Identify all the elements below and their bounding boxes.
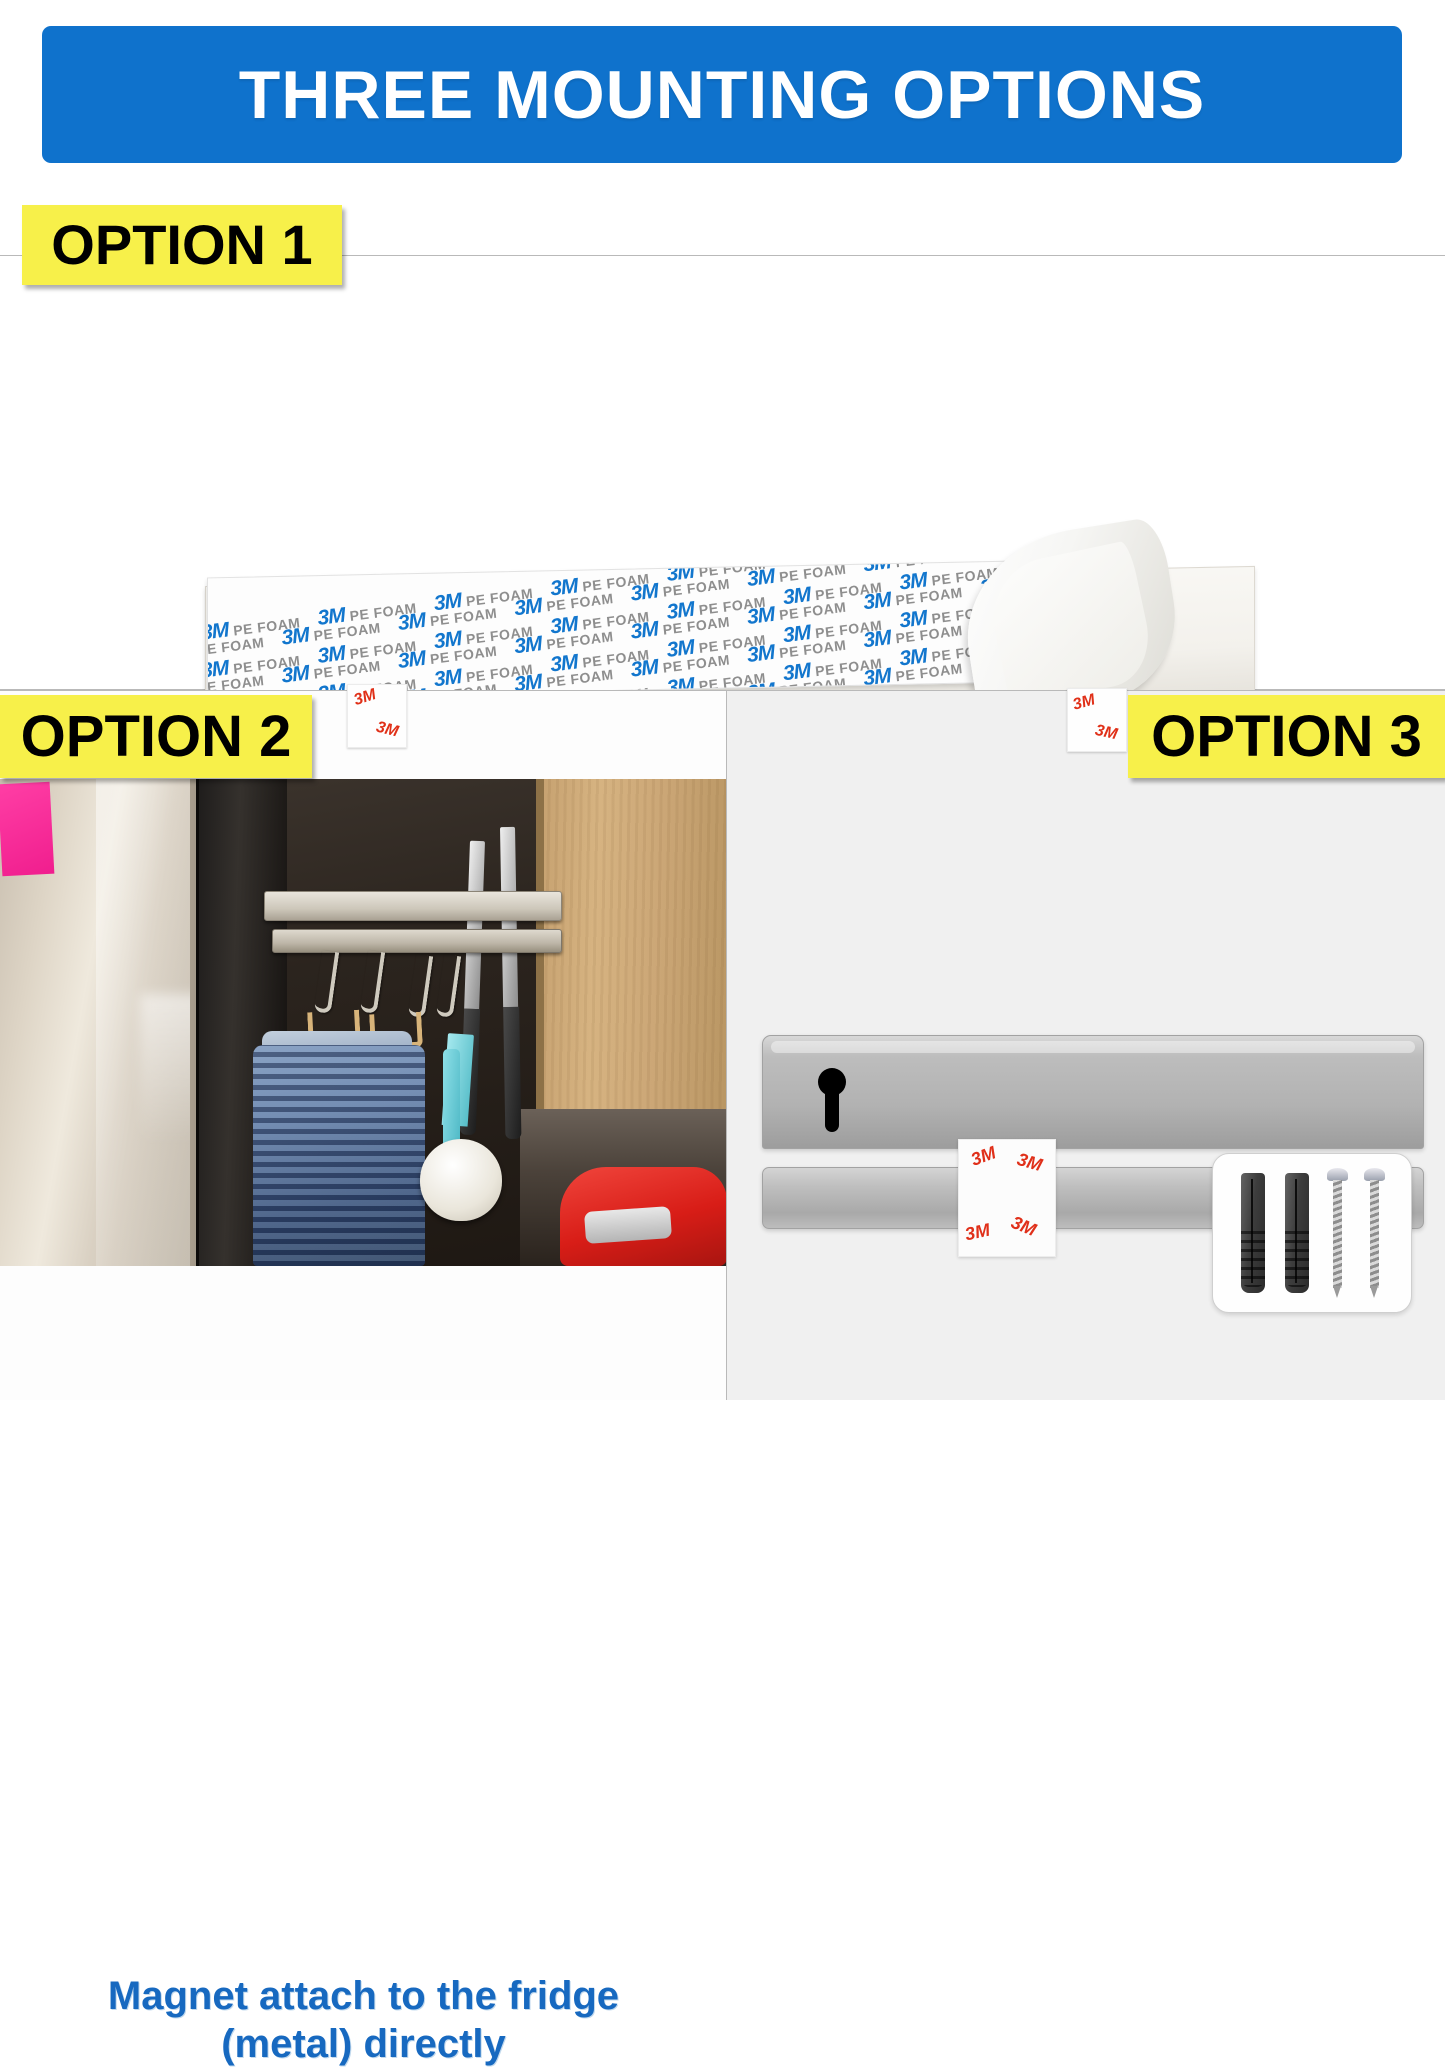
white-ladle — [420, 1139, 502, 1221]
option-2-tag: OPTION 2 — [0, 695, 312, 778]
option-2-caption-line-2: (metal) directly — [221, 2022, 506, 2066]
pink-magnet — [0, 782, 54, 877]
header-banner: THREE MOUNTING OPTIONS — [42, 26, 1402, 163]
ladle-handle — [443, 1049, 460, 1149]
page-title: THREE MOUNTING OPTIONS — [239, 56, 1205, 134]
pad-3m-mark: 3M — [968, 1142, 999, 1170]
option-1-panel: 3MPE FOAM 3MPE FOAM 3MPE FOAM 3MPE FOAM … — [0, 255, 1445, 690]
adhesive-pad: 3M 3M 3M 3M — [958, 1139, 1056, 1257]
pad-3m-mark: 3M — [963, 1220, 992, 1246]
magnetic-rail-upper — [264, 891, 562, 921]
pad-3m-mark: 3M — [374, 719, 400, 742]
pad-3m-mark: 3M — [1008, 1212, 1039, 1241]
wall-anchor-icon — [1285, 1173, 1309, 1293]
magnetic-rail-lower — [272, 929, 562, 953]
option-2-image — [0, 779, 727, 1266]
option-3-tag: OPTION 3 — [1128, 695, 1445, 778]
option-1-tag: OPTION 1 — [22, 205, 342, 285]
keyhole-slot — [815, 1068, 849, 1132]
screw-icon — [1366, 1168, 1383, 1298]
pad-3m-mark: 3M — [1093, 722, 1118, 744]
option-2-caption: Magnet attach to the fridge (metal) dire… — [0, 1973, 727, 2068]
option-2-caption-line-1: Magnet attach to the fridge — [108, 1974, 619, 2018]
pad-3m-mark: 3M — [1071, 691, 1097, 714]
screw-icon — [1329, 1168, 1346, 1298]
wall-mount-rail-upper — [762, 1035, 1424, 1149]
pad-3m-mark: 3M — [1015, 1149, 1045, 1176]
wood-cabinet — [540, 779, 727, 1117]
product-infographic: THREE MOUNTING OPTIONS 3MPE FOAM 3MPE FO… — [0, 0, 1445, 1400]
hanging-denim-towel — [253, 1045, 425, 1266]
option-3-image: 3M 3M 3M 3M — [762, 1035, 1445, 1305]
stand-mixer-head — [584, 1206, 672, 1244]
pad-3m-mark: 3M — [352, 686, 379, 710]
hardware-inset-box — [1212, 1153, 1412, 1313]
wall-anchor-icon — [1241, 1173, 1265, 1293]
adhesive-pad-right: 3M 3M — [1067, 688, 1127, 752]
adhesive-pad-left: 3M 3M — [347, 684, 407, 748]
